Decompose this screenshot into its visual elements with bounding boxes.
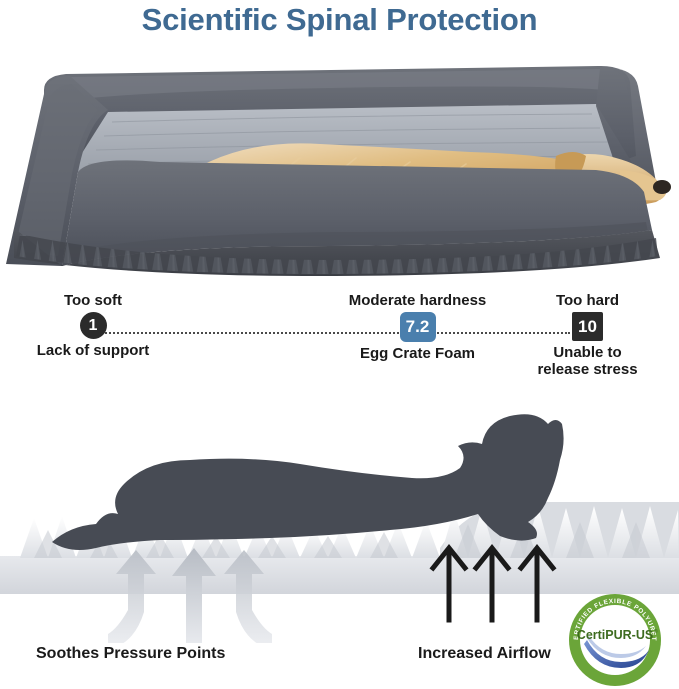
scale-label-top-3: Too hard — [505, 292, 670, 309]
scale-badge-3: 10 — [572, 312, 603, 341]
scale-badge-2: 7.2 — [400, 312, 436, 342]
scale-badge-1: 1 — [80, 312, 107, 339]
cert-trademark-symbol: ® — [654, 628, 658, 635]
scale-label-top-1: Too soft — [18, 292, 168, 309]
scale-label-bottom-2: Egg Crate Foam — [330, 345, 505, 362]
pressure-arrows — [108, 548, 272, 643]
scale-label-bottom-1: Lack of support — [18, 342, 168, 359]
page-title: Scientific Spinal Protection — [0, 2, 679, 38]
infographic-page: Scientific Spinal Protection — [0, 0, 679, 689]
airflow-arrows — [433, 548, 553, 620]
cert-brand-text: CertiPUR-US — [577, 628, 653, 642]
scale-label-bottom-3: Unable torelease stress — [505, 344, 670, 379]
scale-label-top-2: Moderate hardness — [330, 292, 505, 309]
hardness-scale: Too soft 1 Lack of support Moderate hard… — [0, 292, 679, 392]
caption-increased-airflow: Increased Airflow — [418, 645, 551, 663]
product-hero-photo — [0, 52, 679, 277]
caption-soothes-pressure-points: Soothes Pressure Points — [36, 645, 225, 663]
certipur-us-badge: CONTAINS CERTIFIED FLEXIBLE POLYURETHANE… — [567, 592, 663, 688]
scale-point-too-hard: Too hard 10 Unable torelease stress — [505, 292, 670, 379]
scale-point-moderate: Moderate hardness 7.2 Egg Crate Foam — [330, 292, 505, 362]
scale-point-too-soft: Too soft 1 Lack of support — [18, 292, 168, 359]
